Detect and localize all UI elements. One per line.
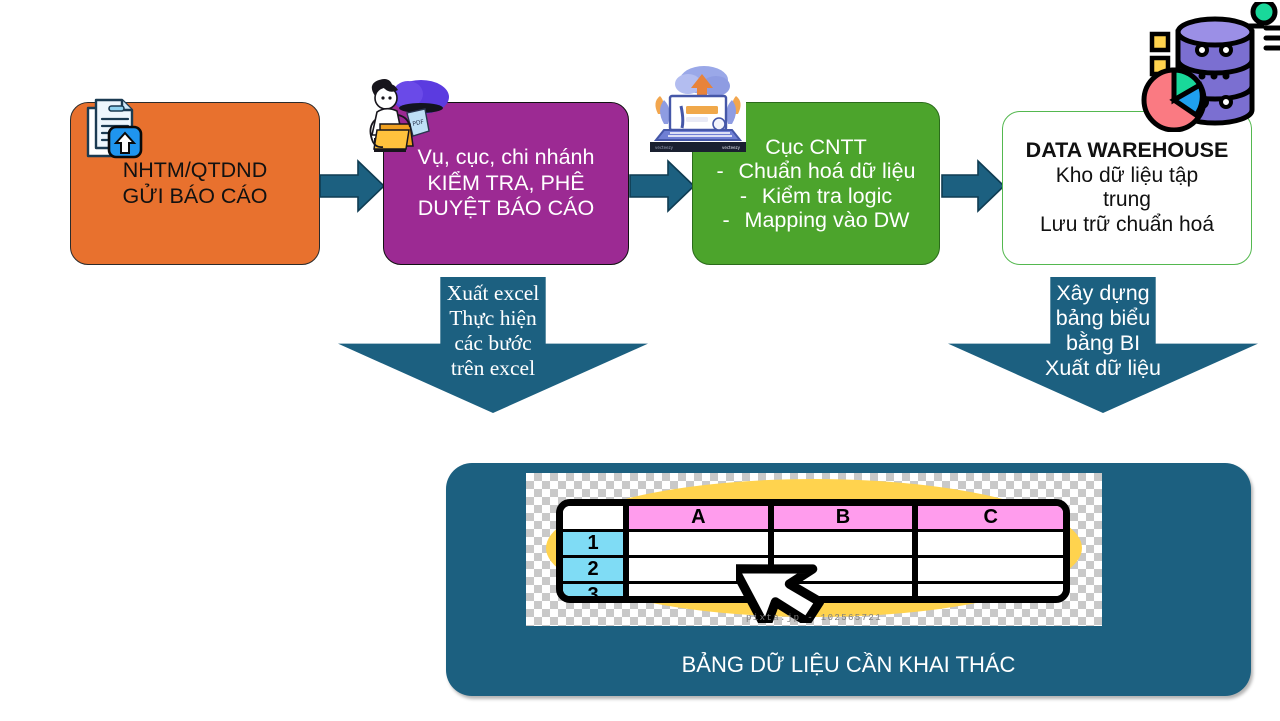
grid-col-header-a: A bbox=[629, 506, 774, 532]
process-box-dw-text: DATA WAREHOUSE Kho dữ liệu tập trung Lưu… bbox=[1003, 138, 1251, 238]
grid-corner-cell bbox=[563, 506, 629, 532]
cntt-bullet-3: -Mapping vào DW bbox=[701, 208, 931, 232]
spreadsheet-credit: pixta.jp - 102565721 bbox=[526, 613, 1102, 623]
down-arrow-bi-label: Xây dựng bảng biểu bằng BI Xuất dữ liệu bbox=[948, 281, 1258, 381]
excel-line-1: Xuất excel bbox=[338, 281, 648, 306]
process-box-data-warehouse[interactable]: DATA WAREHOUSE Kho dữ liệu tập trung Lưu… bbox=[1002, 111, 1252, 265]
down-arrow-bi: Xây dựng bảng biểu bằng BI Xuất dữ liệu bbox=[948, 277, 1258, 413]
cntt-dash-3: - bbox=[723, 208, 745, 232]
cntt-bullet-2: -Kiểm tra logic bbox=[701, 184, 931, 208]
cntt-dash-1: - bbox=[717, 159, 739, 183]
database-analytics-icon bbox=[1136, 2, 1280, 132]
spreadsheet-image: PIXTA A B C 1 2 3 pixta.jp - 102565721 bbox=[526, 473, 1102, 626]
bottom-caption: BẢNG DỮ LIỆU CẦN KHAI THÁC bbox=[446, 652, 1251, 678]
grid-cell-c2 bbox=[918, 558, 1063, 584]
cntt-bullet-1-label: Chuẩn hoá dữ liệu bbox=[739, 159, 916, 183]
bi-line-3: bằng BI bbox=[948, 331, 1258, 356]
review-line-2: KIỂM TRA, PHÊ bbox=[392, 171, 620, 196]
person-folder-cloud-icon: PDF bbox=[352, 68, 452, 168]
cntt-bullet-3-label: Mapping vào DW bbox=[745, 208, 910, 232]
connector-arrow-3 bbox=[940, 158, 1006, 214]
grid-cell-c3 bbox=[918, 584, 1063, 603]
cntt-bullet-1: -Chuẩn hoá dữ liệu bbox=[701, 159, 931, 183]
dw-title: DATA WAREHOUSE bbox=[1011, 138, 1243, 163]
bi-line-4: Xuất dữ liệu bbox=[948, 356, 1258, 381]
grid-col-header-b: B bbox=[774, 506, 919, 532]
svg-text:vecteezy: vecteezy bbox=[655, 145, 674, 150]
grid-row-header-1: 1 bbox=[563, 532, 629, 558]
down-arrow-excel-label: Xuất excel Thực hiện các bước trên excel bbox=[338, 281, 648, 381]
cntt-bullet-2-label: Kiểm tra logic bbox=[762, 184, 892, 208]
document-upload-icon bbox=[66, 82, 150, 166]
grid-row-header-3: 3 bbox=[563, 584, 629, 603]
dw-line-3: Lưu trữ chuẩn hoá bbox=[1011, 213, 1243, 238]
diagram-canvas: NHTM/QTDND GỬI BÁO CÁO bbox=[0, 0, 1280, 721]
report-line-2: GỬI BÁO CÁO bbox=[79, 184, 311, 209]
dw-line-1: Kho dữ liệu tập bbox=[1011, 164, 1243, 189]
bi-line-1: Xây dựng bbox=[948, 281, 1258, 306]
grid-row-header-2: 2 bbox=[563, 558, 629, 584]
laptop-cloud-upload-icon: vecteezy vecteezy bbox=[650, 62, 746, 152]
excel-line-2: Thực hiện bbox=[338, 306, 648, 331]
dw-line-2: trung bbox=[1011, 188, 1243, 213]
down-arrow-excel: Xuất excel Thực hiện các bước trên excel bbox=[338, 277, 648, 413]
bi-line-2: bảng biểu bbox=[948, 306, 1258, 331]
connector-arrow-2 bbox=[628, 158, 696, 214]
svg-text:vecteezy: vecteezy bbox=[722, 145, 741, 150]
excel-line-3: các bước bbox=[338, 331, 648, 356]
grid-col-header-c: C bbox=[918, 506, 1063, 532]
grid-cell-c1 bbox=[918, 532, 1063, 558]
excel-line-4: trên excel bbox=[338, 356, 648, 381]
review-line-3: DUYỆT BÁO CÁO bbox=[392, 196, 620, 221]
cntt-dash-2: - bbox=[740, 184, 762, 208]
